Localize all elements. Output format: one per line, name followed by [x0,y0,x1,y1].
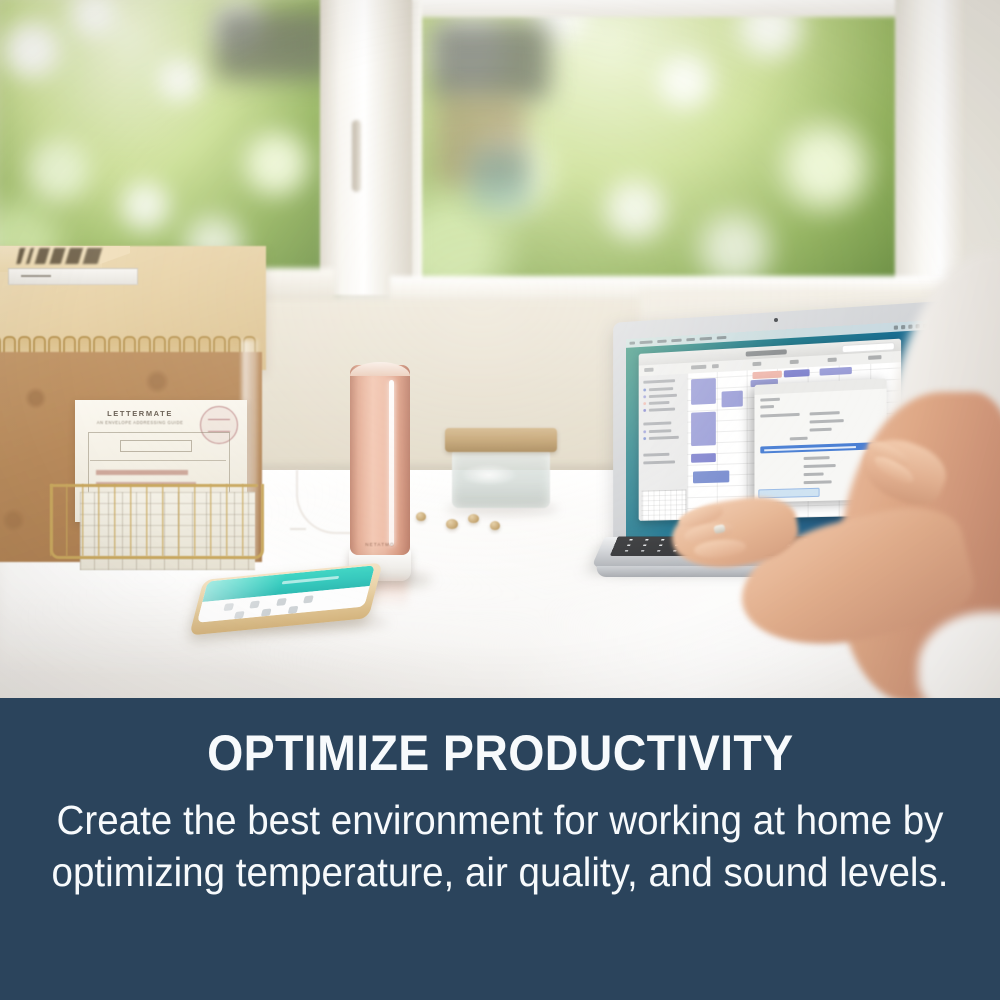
calendar-event[interactable] [753,371,782,380]
glass-jar-wooden-lid [445,428,557,452]
scattered-nut [468,514,479,523]
window-frame-right [895,0,965,285]
netatmo-led-strip [389,380,394,546]
window-mullion [320,0,412,295]
window-frame-top [390,0,950,17]
dialog-selected-row[interactable] [760,442,880,453]
background-building-bokeh-left [215,10,335,80]
lettermate-card-redline-1 [96,470,188,475]
product-lifestyle-image: LETTERMATE AN ENVELOPE ADDRESSING GUIDE … [0,0,1000,1000]
calendar-event[interactable] [722,391,743,408]
lettermate-card-field [120,440,192,452]
caption-banner: OPTIMIZE PRODUCTIVITY Create the best en… [0,698,1000,1000]
calendar-mini-month[interactable] [641,489,686,520]
scattered-nut [490,521,500,530]
lettermate-card-title: LETTERMATE [95,409,185,418]
calendar-event[interactable] [691,378,716,405]
calendar-event[interactable] [691,453,716,463]
background-building-bokeh-mid [430,22,550,100]
caption-banner-content: OPTIMIZE PRODUCTIVITY Create the best en… [0,698,1000,1000]
background-teal-bokeh [470,150,530,210]
netatmo-cable-tail [290,528,306,530]
folder-handwritten-label [16,248,105,264]
caption-headline: OPTIMIZE PRODUCTIVITY [207,728,794,778]
glass-jar [452,450,550,508]
brass-card-holder-wires [50,484,258,556]
lettermate-card-rule [90,460,226,461]
lettermate-card-subtitle: AN ENVELOPE ADDRESSING GUIDE [85,420,195,425]
scattered-nut [446,519,458,529]
window-handle [352,120,361,192]
calendar-sidebar[interactable] [639,374,689,521]
calendar-window-title [746,349,787,356]
folder-label-strip [8,268,138,285]
calendar-event[interactable] [693,470,729,483]
calendar-event[interactable] [691,412,716,446]
netatmo-brand-label: NETATMO [358,542,402,547]
calendar-event[interactable] [784,369,810,377]
caption-subtext: Create the best environment for working … [49,794,951,899]
calendar-event[interactable] [820,367,852,376]
netatmo-air-sensor [350,365,410,555]
brass-card-holder-rail [50,484,258,487]
lifestyle-photo: LETTERMATE AN ENVELOPE ADDRESSING GUIDE … [0,0,1000,698]
scattered-nut [416,512,426,521]
